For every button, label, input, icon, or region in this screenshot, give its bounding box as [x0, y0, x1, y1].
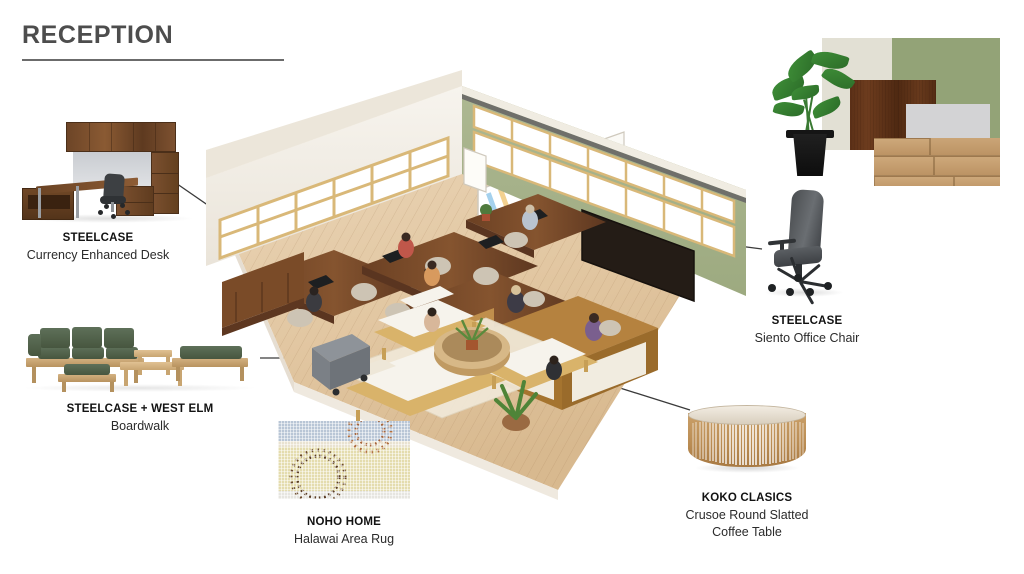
callout-product: Boardwalk — [20, 418, 260, 436]
callout-boardwalk[interactable]: STEELCASE + WEST ELM Boardwalk — [20, 401, 260, 435]
coffee-table-slat — [785, 420, 787, 460]
halawai-rug-image — [278, 421, 410, 499]
title-underline-rule — [22, 59, 284, 61]
coffee-table-slat — [712, 420, 714, 462]
wood-grain-line — [863, 80, 864, 150]
room-render — [186, 70, 764, 510]
crusoe-coffee-table-image — [686, 403, 808, 481]
coffee-table-slat — [802, 423, 804, 457]
wood-grain-line — [854, 80, 855, 150]
callout-currency-desk[interactable]: STEELCASE Currency Enhanced Desk — [0, 230, 196, 264]
coffee-table-slat — [705, 421, 707, 460]
coffee-table-slat — [792, 421, 794, 459]
page-title-block: RECEPTION — [22, 22, 284, 61]
coffee-table-slat — [695, 422, 697, 457]
currency-desk-image — [18, 122, 200, 222]
callout-halawai-rug[interactable]: NOHO HOME Halawai Area Rug — [252, 514, 436, 548]
coffee-table-slat — [765, 418, 767, 464]
coffee-table-slat — [715, 419, 717, 462]
oak-flooring-swatch — [874, 138, 1000, 186]
wood-grain-line — [860, 80, 861, 150]
coffee-table-slat — [722, 418, 724, 463]
wood-grain-line — [851, 80, 852, 150]
callout-product: Halawai Area Rug — [252, 531, 436, 549]
coffee-table-slat — [729, 418, 731, 464]
coffee-table-slat — [782, 420, 784, 462]
coffee-table-slat — [772, 418, 774, 463]
coffee-table-slat — [709, 420, 711, 460]
coffee-table-slat — [795, 422, 797, 459]
wood-grain-line — [857, 80, 858, 150]
callout-product: Currency Enhanced Desk — [0, 247, 196, 265]
boardwalk-sofa-image — [22, 322, 258, 394]
callout-brand: STEELCASE — [714, 313, 900, 330]
coffee-table-slat — [769, 418, 771, 463]
callout-product: Siento Office Chair — [714, 330, 900, 348]
callout-crusoe-table[interactable]: KOKO CLASICS Crusoe Round Slatted Coffee… — [652, 490, 842, 542]
callout-brand: KOKO CLASICS — [652, 490, 842, 507]
coffee-table-slat — [702, 421, 704, 459]
coffee-table-slat — [719, 419, 721, 463]
page-title: RECEPTION — [22, 22, 284, 50]
coffee-table-slat — [775, 419, 777, 463]
wood-grain-line — [870, 80, 871, 150]
callout-product-line1: Crusoe Round Slatted — [652, 507, 842, 525]
coffee-table-slat — [789, 421, 791, 460]
wood-grain-line — [867, 80, 868, 150]
design-board: RECEPTION — [0, 0, 1024, 574]
siento-chair-image — [752, 190, 862, 305]
callout-brand: NOHO HOME — [252, 514, 436, 531]
coffee-table-slat — [692, 423, 694, 457]
coffee-table-slat — [779, 419, 781, 462]
material-palette — [770, 26, 1024, 196]
coffee-table-slat — [799, 422, 801, 457]
coffee-table-slat — [725, 418, 727, 463]
corner-whiteboard — [464, 148, 486, 192]
callout-product-line2: Coffee Table — [652, 524, 842, 542]
callout-brand: STEELCASE + WEST ELM — [20, 401, 260, 418]
chair-base-spoke — [799, 264, 821, 283]
callout-siento-chair[interactable]: STEELCASE Siento Office Chair — [714, 313, 900, 347]
callout-brand: STEELCASE — [0, 230, 196, 247]
coffee-table-slat — [699, 422, 701, 459]
